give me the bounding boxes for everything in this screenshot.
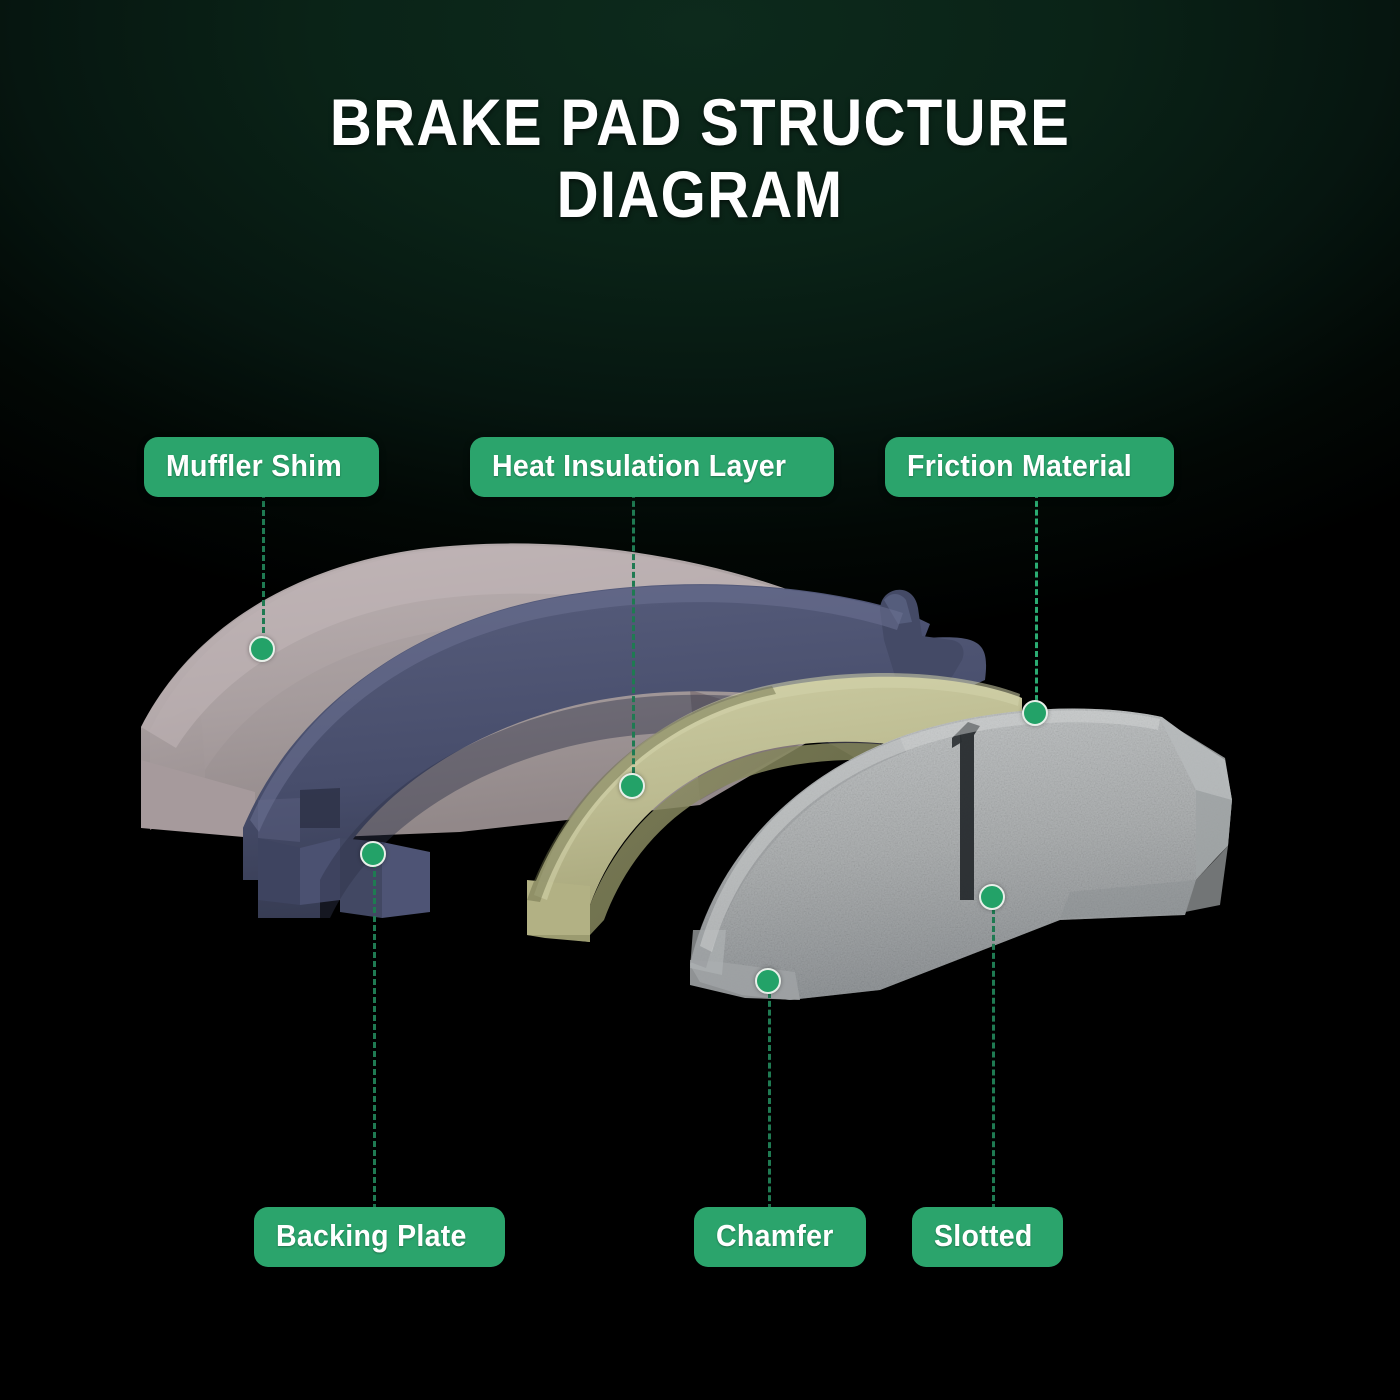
label-friction-material[interactable]: Friction Material: [885, 437, 1174, 497]
connector-chamfer: [768, 992, 771, 1210]
label-muffler-shim[interactable]: Muffler Shim: [144, 437, 379, 497]
title-line-1: BRAKE PAD STRUCTURE: [84, 86, 1316, 158]
connector-heat-insulation-layer: [632, 492, 635, 782]
label-heat-insulation-layer[interactable]: Heat Insulation Layer: [470, 437, 834, 497]
title-line-2: DIAGRAM: [84, 158, 1316, 230]
connector-backing-plate: [373, 862, 376, 1210]
label-heat-insulation-layer-text: Heat Insulation Layer: [492, 450, 786, 482]
anchor-dot-muffler-shim: [249, 636, 275, 662]
connector-slotted: [992, 908, 995, 1210]
label-backing-plate[interactable]: Backing Plate: [254, 1207, 505, 1267]
page-title: BRAKE PAD STRUCTURE DIAGRAM: [0, 86, 1400, 230]
connector-muffler-shim: [262, 492, 265, 642]
connector-friction-material: [1035, 492, 1038, 710]
anchor-dot-chamfer: [755, 968, 781, 994]
anchor-dot-heat-insulation-layer: [619, 773, 645, 799]
label-chamfer-text: Chamfer: [716, 1220, 834, 1252]
anchor-dot-slotted: [979, 884, 1005, 910]
label-chamfer[interactable]: Chamfer: [694, 1207, 866, 1267]
label-slotted[interactable]: Slotted: [912, 1207, 1063, 1267]
label-slotted-text: Slotted: [934, 1220, 1033, 1252]
label-backing-plate-text: Backing Plate: [276, 1220, 467, 1252]
brake-pad-diagram: BRAKE PAD STRUCTURE DIAGRAM: [0, 0, 1400, 1400]
label-friction-material-text: Friction Material: [907, 450, 1132, 482]
anchor-dot-backing-plate: [360, 841, 386, 867]
label-muffler-shim-text: Muffler Shim: [166, 450, 342, 482]
anchor-dot-friction-material: [1022, 700, 1048, 726]
